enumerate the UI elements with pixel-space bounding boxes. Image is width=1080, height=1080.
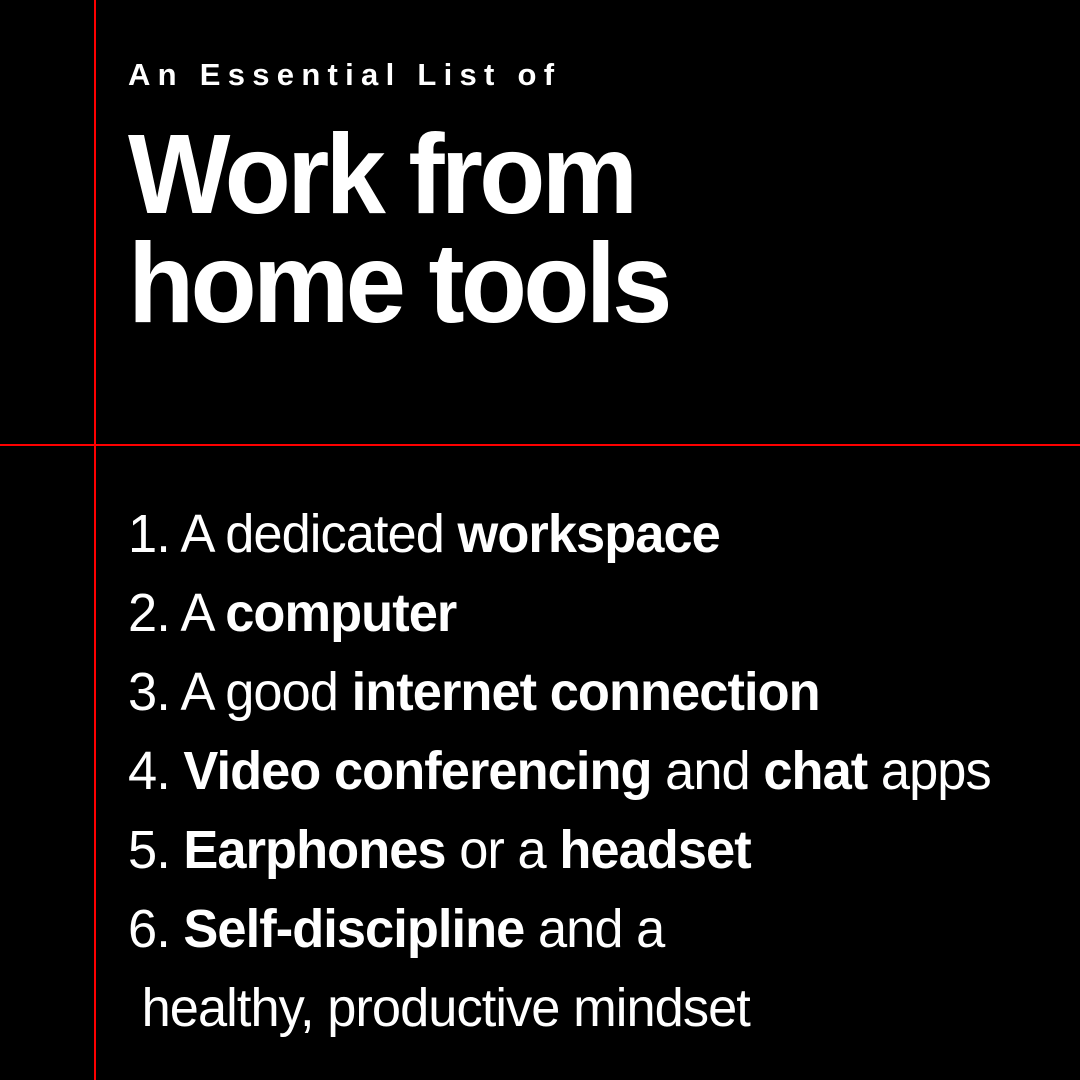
- poster-canvas: An Essential List of Work from home tool…: [0, 0, 1080, 1080]
- list-item-text: 1. A dedicated: [128, 504, 458, 564]
- vertical-guide-line: [94, 0, 96, 1080]
- list-item-continuation: healthy, productive mindset: [128, 969, 1040, 1048]
- list-item-text: 6.: [128, 899, 183, 959]
- list-item: 1. A dedicated workspace: [128, 495, 1040, 574]
- eyebrow-text: An Essential List of: [128, 58, 1048, 92]
- list-item-keyword: Earphones: [183, 820, 445, 880]
- list-item-text: and a: [524, 899, 664, 959]
- tools-list: 1. A dedicated workspace2. A computer3. …: [128, 495, 1068, 1048]
- list-item: 6. Self-discipline and a: [128, 890, 1040, 969]
- list-item-text: 2. A: [128, 583, 225, 643]
- list-item-text: apps: [867, 741, 990, 801]
- header-block: An Essential List of Work from home tool…: [128, 58, 1048, 337]
- list-item-text: or a: [446, 820, 560, 880]
- list-item-keyword: Video conferencing: [183, 741, 651, 801]
- list-item-text: 3. A good: [128, 662, 352, 722]
- page-title: Work from home tools: [128, 120, 1011, 337]
- list-item-keyword: workspace: [458, 504, 720, 564]
- list-item: 2. A computer: [128, 574, 1040, 653]
- headline-line-2: home tools: [128, 229, 1011, 337]
- headline-line-1: Work from: [128, 120, 1011, 228]
- list-item: 5. Earphones or a headset: [128, 811, 1040, 890]
- list-item-keyword: computer: [225, 583, 456, 643]
- list-item-keyword: Self-discipline: [183, 899, 524, 959]
- list-item: 4. Video conferencing and chat apps: [128, 732, 1040, 811]
- list-item: 3. A good internet connection: [128, 653, 1040, 732]
- list-item-keyword: chat: [763, 741, 867, 801]
- list-item-text: 5.: [128, 820, 183, 880]
- list-item-text: and: [652, 741, 764, 801]
- horizontal-guide-line: [0, 444, 1080, 446]
- list-item-text: 4.: [128, 741, 183, 801]
- list-item-keyword: headset: [559, 820, 750, 880]
- list-item-keyword: internet connection: [352, 662, 820, 722]
